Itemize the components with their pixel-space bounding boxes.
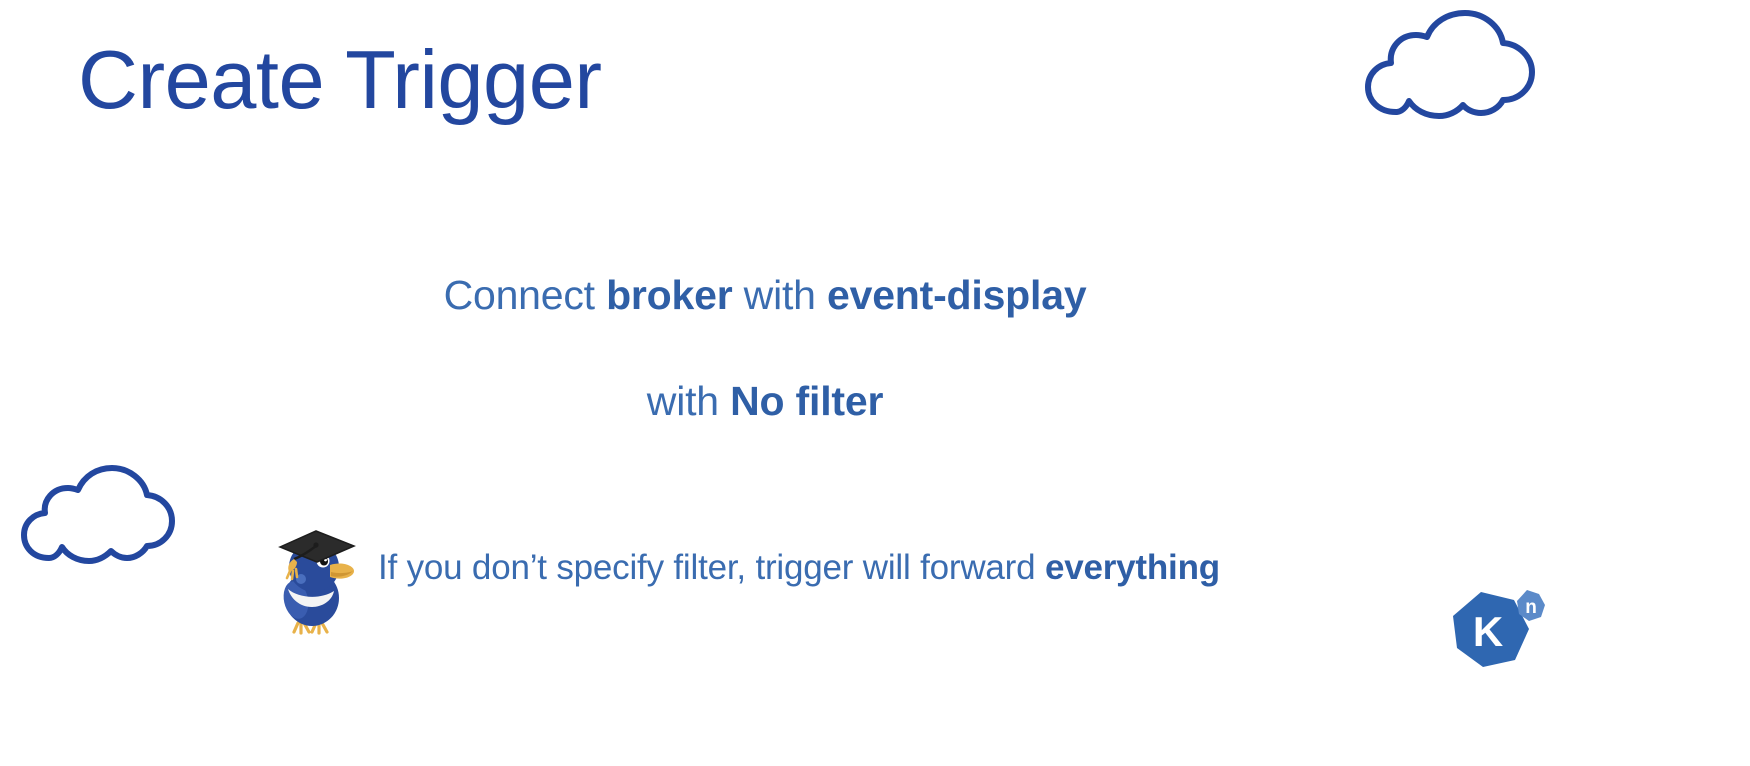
knative-logo: K n — [1443, 582, 1553, 682]
graduate-bird-mascot-icon — [268, 505, 360, 635]
cloud-outline-icon — [18, 462, 178, 570]
body-line-connect-with: with — [732, 272, 827, 318]
note-text-prefix: If you don’t specify filter, trigger wil… — [378, 548, 1045, 587]
knative-logo-letter-k: K — [1473, 608, 1503, 655]
body-text-block: Connect broker with event-display with N… — [0, 270, 1530, 428]
body-line-connect-broker: broker — [606, 272, 732, 318]
body-line-filter: with No filter — [0, 376, 1530, 427]
note-text-emphasis: everything — [1045, 548, 1220, 587]
body-line-connect: Connect broker with event-display — [0, 270, 1530, 321]
note-row: If you don’t specify filter, trigger wil… — [268, 505, 1368, 635]
cloud-outline-icon — [1362, 8, 1538, 124]
knative-logo-letter-n: n — [1525, 597, 1537, 618]
page-title: Create Trigger — [78, 36, 602, 123]
body-line-connect-prefix: Connect — [444, 272, 607, 318]
note-text: If you don’t specify filter, trigger wil… — [378, 548, 1220, 588]
body-line-filter-value: No filter — [730, 378, 883, 424]
body-line-filter-prefix: with — [647, 378, 730, 424]
body-line-connect-event-display: event-display — [827, 272, 1086, 318]
